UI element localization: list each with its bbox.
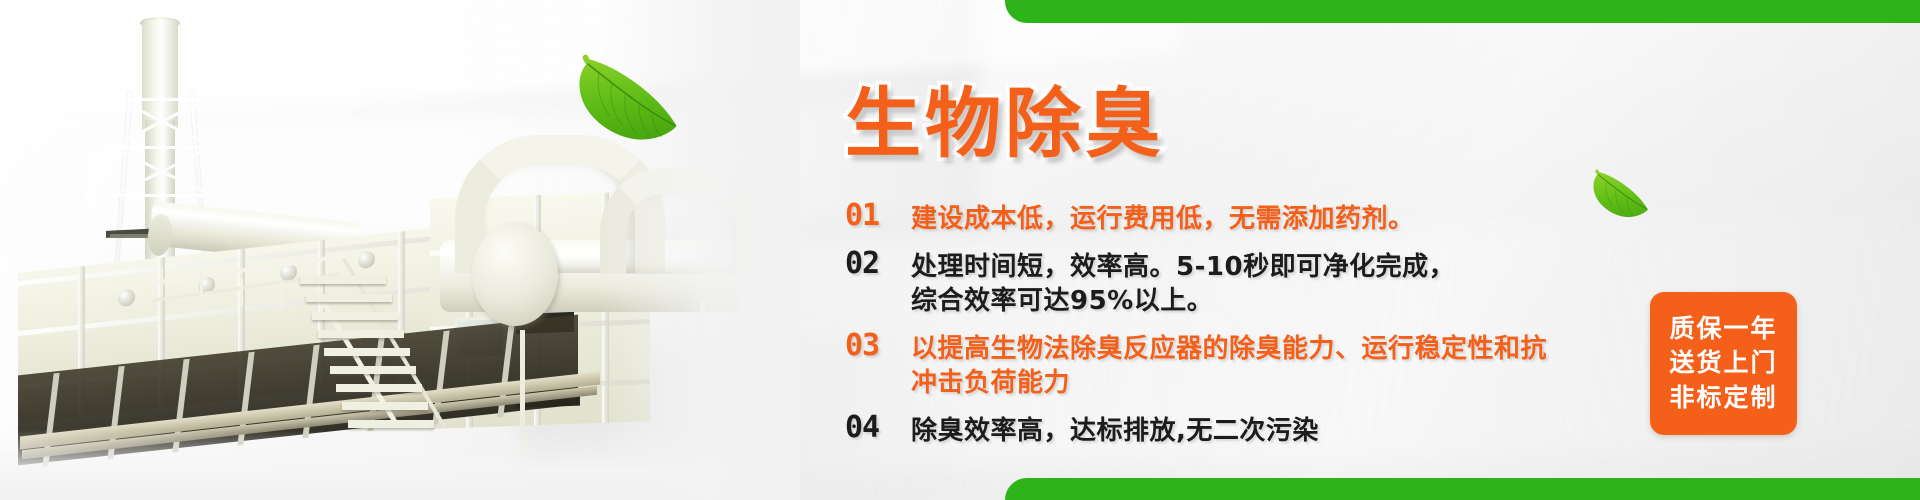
promo-banner: 生物除臭 01 建设成本低，运行费用低，无需添加药剂。 02 处理时间短，效率高… — [0, 0, 1920, 500]
badge-line-custom: 非标定制 — [1669, 381, 1777, 416]
access-stairs — [300, 272, 420, 442]
feature-item-03: 03 以提高生物法除臭反应器的除臭能力、运行稳定性和抗冲击负荷能力 — [845, 330, 1675, 401]
feature-text: 以提高生物法除臭反应器的除臭能力、运行稳定性和抗冲击负荷能力 — [911, 330, 1571, 401]
feature-item-02: 02 处理时间短，效率高。5-10秒即可净化完成，综合效率可达95%以上。 — [845, 248, 1675, 319]
green-accent-bar-bottom — [1005, 478, 1920, 500]
feature-text: 处理时间短，效率高。5-10秒即可净化完成，综合效率可达95%以上。 — [911, 248, 1471, 319]
feature-text: 建设成本低，运行费用低，无需添加药剂。 — [911, 200, 1415, 237]
feature-text: 除臭效率高，达标排放,无二次污染 — [911, 412, 1319, 449]
feature-number: 04 — [845, 412, 899, 444]
page-title: 生物除臭 — [845, 62, 1165, 172]
feature-number: 01 — [845, 200, 899, 232]
badge-line-warranty: 质保一年 — [1669, 312, 1777, 347]
feature-number: 02 — [845, 248, 899, 280]
feature-item-04: 04 除臭效率高，达标排放,无二次污染 — [845, 412, 1675, 449]
feature-number: 03 — [845, 330, 899, 362]
feature-list: 01 建设成本低，运行费用低，无需添加药剂。 02 处理时间短，效率高。5-10… — [845, 200, 1675, 459]
duct-flange-disc — [472, 222, 558, 326]
guarantee-badge: 质保一年 送货上门 非标定制 — [1650, 292, 1797, 435]
green-accent-bar-top — [1005, 0, 1920, 23]
badge-line-delivery: 送货上门 — [1669, 346, 1777, 381]
feature-item-01: 01 建设成本低，运行费用低，无需添加药剂。 — [845, 200, 1675, 237]
equipment-photo — [0, 0, 780, 500]
